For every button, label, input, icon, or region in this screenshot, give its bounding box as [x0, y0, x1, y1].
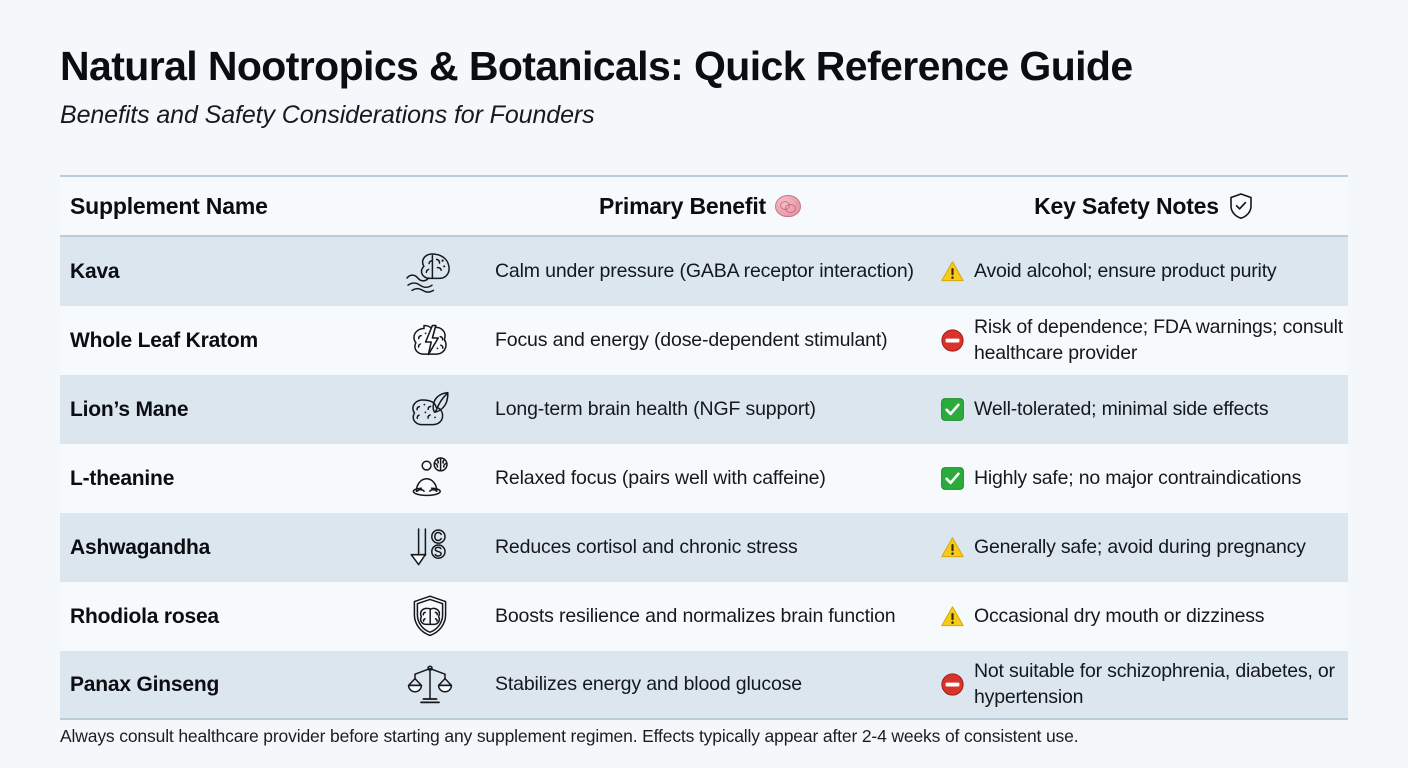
- shield-check-icon: [1228, 192, 1254, 220]
- safety-text: Not suitable for schizophrenia, diabetes…: [974, 659, 1344, 710]
- cell-supplement-name: Rhodiola rosea: [60, 605, 460, 629]
- table-row[interactable]: L-theanine Relaxed focus (pairs well wit…: [60, 444, 1348, 513]
- cell-supplement-name: Lion’s Mane: [60, 398, 460, 422]
- cell-safety-notes: Occasional dry mouth or dizziness: [940, 604, 1348, 629]
- safety-text: Avoid alcohol; ensure product purity: [974, 259, 1276, 284]
- warning-triangle-icon: [940, 604, 965, 629]
- no-entry-icon: [940, 328, 965, 353]
- benefit-text: Reduces cortisol and chronic stress: [460, 535, 798, 561]
- safety-text: Well-tolerated; minimal side effects: [974, 397, 1268, 422]
- reference-guide-page: Natural Nootropics & Botanicals: Quick R…: [0, 0, 1408, 768]
- cell-safety-notes: Highly safe; no major contraindications: [940, 466, 1348, 491]
- safety-text: Risk of dependence; FDA warnings; consul…: [974, 315, 1344, 366]
- brain-leaf-icon: [402, 386, 458, 432]
- table-header-row: Supplement Name Primary Benefit Key Safe…: [60, 177, 1348, 237]
- cell-primary-benefit: Calm under pressure (GABA receptor inter…: [460, 259, 940, 285]
- green-check-icon: [940, 397, 965, 422]
- benefit-text: Focus and energy (dose-dependent stimula…: [460, 328, 887, 354]
- brain-lightning-icon: [402, 317, 458, 363]
- cell-supplement-name: Whole Leaf Kratom: [60, 329, 460, 353]
- safety-text: Generally safe; avoid during pregnancy: [974, 535, 1306, 560]
- safety-text: Occasional dry mouth or dizziness: [974, 604, 1264, 629]
- warning-triangle-icon: [940, 535, 965, 560]
- benefit-text: Calm under pressure (GABA receptor inter…: [460, 259, 914, 285]
- cell-safety-notes: Generally safe; avoid during pregnancy: [940, 535, 1348, 560]
- cell-safety-notes: Risk of dependence; FDA warnings; consul…: [940, 315, 1348, 366]
- table-row[interactable]: Whole Leaf Kratom Focus and energy (dose…: [60, 306, 1348, 375]
- cell-primary-benefit: Stabilizes energy and blood glucose: [460, 672, 940, 698]
- cell-safety-notes: Not suitable for schizophrenia, diabetes…: [940, 659, 1348, 710]
- cell-safety-notes: Well-tolerated; minimal side effects: [940, 397, 1348, 422]
- cell-primary-benefit: Relaxed focus (pairs well with caffeine): [460, 466, 940, 492]
- table-row[interactable]: Lion’s Mane Long-term brain health (NGF …: [60, 375, 1348, 444]
- cell-primary-benefit: Focus and energy (dose-dependent stimula…: [460, 328, 940, 354]
- shield-brain-icon: [402, 593, 458, 639]
- brain-emoji-icon: [775, 195, 801, 217]
- cell-supplement-name: L-theanine: [60, 467, 460, 491]
- cell-supplement-name: Panax Ginseng: [60, 673, 460, 697]
- column-header-label: Primary Benefit: [599, 193, 766, 220]
- no-entry-icon: [940, 672, 965, 697]
- footnote-text: Always consult healthcare provider befor…: [60, 726, 1078, 747]
- cell-supplement-name: Ashwagandha: [60, 536, 460, 560]
- meditating-person-brain-icon: [402, 455, 458, 501]
- cell-primary-benefit: Reduces cortisol and chronic stress: [460, 535, 940, 561]
- safety-text: Highly safe; no major contraindications: [974, 466, 1301, 491]
- cell-primary-benefit: Long-term brain health (NGF support): [460, 397, 940, 423]
- benefit-text: Relaxed focus (pairs well with caffeine): [460, 466, 826, 492]
- benefit-text: Stabilizes energy and blood glucose: [460, 672, 802, 698]
- cell-primary-benefit: Boosts resilience and normalizes brain f…: [460, 604, 940, 630]
- benefit-text: Long-term brain health (NGF support): [460, 397, 816, 423]
- down-arrow-cortisol-stress-icon: [402, 524, 458, 570]
- cell-supplement-name: Kava: [60, 260, 460, 284]
- balance-scales-icon: [402, 661, 458, 707]
- table-row[interactable]: Panax Ginseng Stabilizes ene: [60, 651, 1348, 720]
- table-row[interactable]: Rhodiola rosea Boosts resilience and nor…: [60, 582, 1348, 651]
- document-header: Natural Nootropics & Botanicals: Quick R…: [60, 44, 1350, 130]
- supplements-table: Supplement Name Primary Benefit Key Safe…: [60, 175, 1348, 720]
- table-row[interactable]: Kava Calm under pressure (GABA receptor …: [60, 237, 1348, 306]
- page-subtitle: Benefits and Safety Considerations for F…: [60, 101, 1350, 130]
- column-header-primary-benefit: Primary Benefit: [460, 193, 940, 220]
- column-header-supplement-name: Supplement Name: [60, 193, 460, 220]
- page-title: Natural Nootropics & Botanicals: Quick R…: [60, 44, 1350, 90]
- brain-waves-icon: [402, 248, 458, 294]
- column-header-label: Key Safety Notes: [1034, 193, 1219, 220]
- column-header-label: Supplement Name: [70, 193, 268, 220]
- green-check-icon: [940, 466, 965, 491]
- cell-safety-notes: Avoid alcohol; ensure product purity: [940, 259, 1348, 284]
- warning-triangle-icon: [940, 259, 965, 284]
- table-row[interactable]: Ashwagandha Reduces cortisol and chronic…: [60, 513, 1348, 582]
- column-header-key-safety-notes: Key Safety Notes: [940, 192, 1348, 220]
- benefit-text: Boosts resilience and normalizes brain f…: [460, 604, 896, 630]
